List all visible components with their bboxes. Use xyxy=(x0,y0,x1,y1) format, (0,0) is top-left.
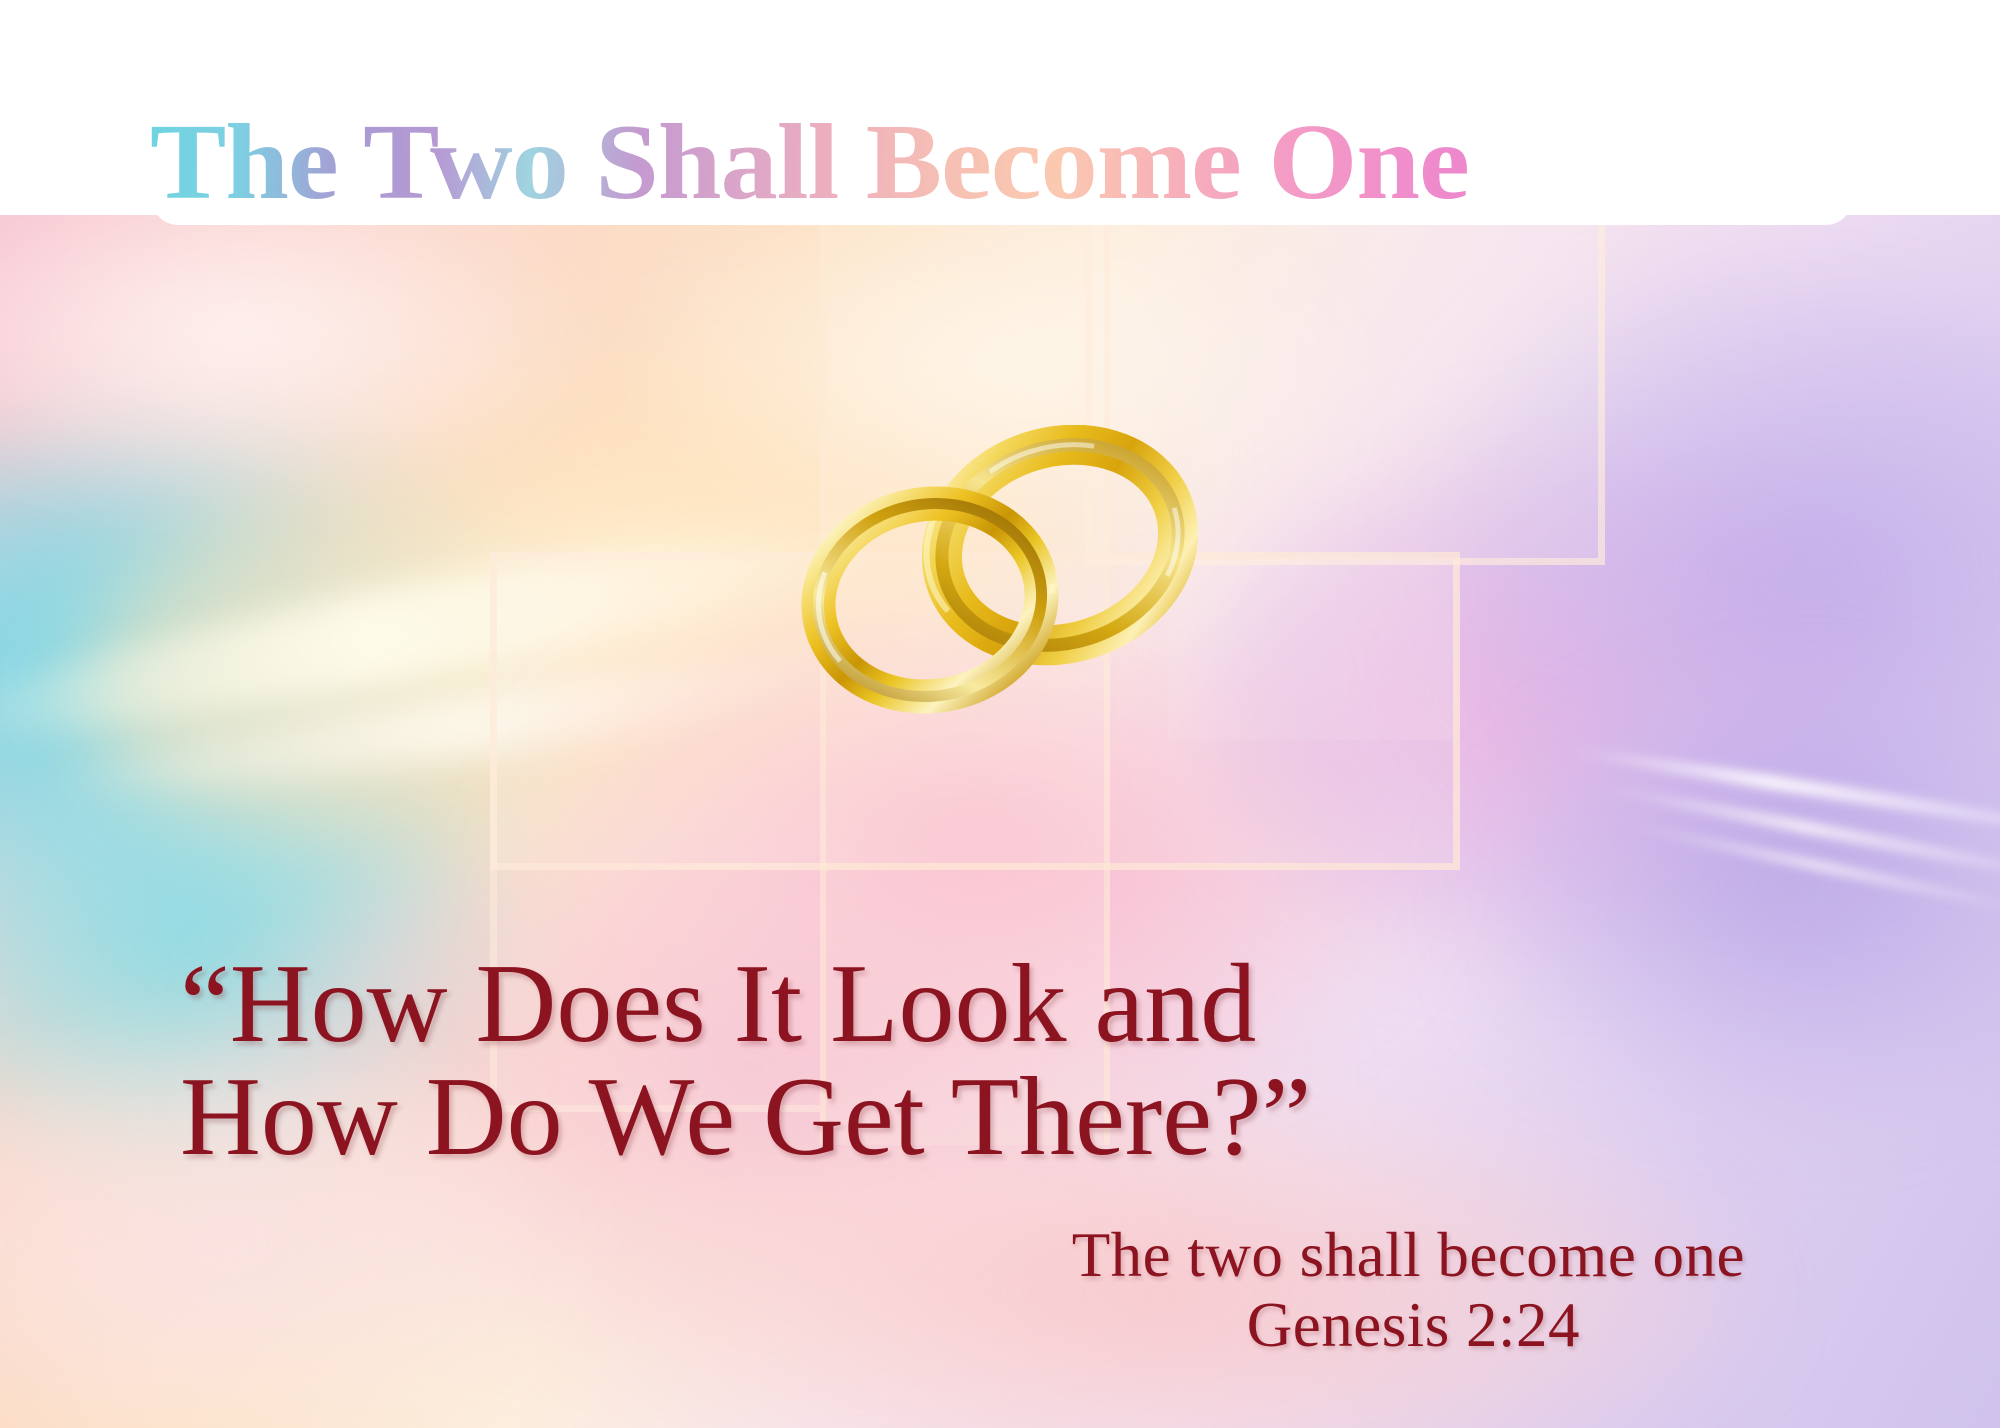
headline-line-2: How Do We Get There?” xyxy=(180,1061,1820,1174)
headline: “How Does It Look and How Do We Get Ther… xyxy=(180,948,1820,1174)
slide-canvas: The Two Shall Become One “How Does It Lo… xyxy=(0,0,2000,1428)
verse-citation: Genesis 2:24 xyxy=(545,1290,1580,1360)
wedding-rings-icon xyxy=(770,425,1240,725)
page-title: The Two Shall Become One xyxy=(150,104,1963,224)
headline-line-1: “How Does It Look and xyxy=(180,948,1820,1061)
scripture-reference: The two shall become one Genesis 2:24 xyxy=(545,1222,1745,1360)
verse-text: The two shall become one xyxy=(545,1222,1745,1288)
